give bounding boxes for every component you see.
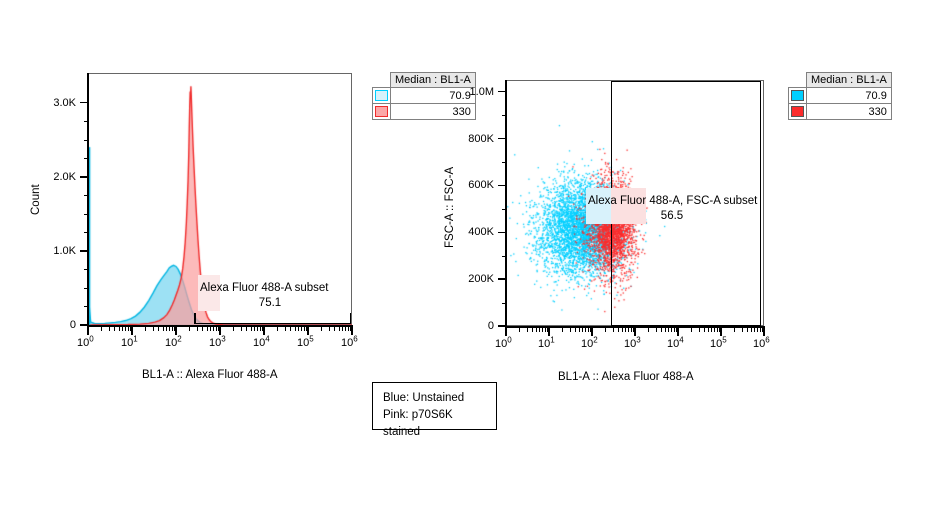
legend2-row-blue: 70.9 <box>789 88 892 104</box>
x-tick-minor <box>172 327 173 331</box>
pink-swatch <box>375 106 388 117</box>
y-tick-minor <box>84 288 88 289</box>
scatter-x-axis-title: BL1-A :: Alexa Fluor 488-A <box>558 371 694 383</box>
x-tick-minor <box>628 328 629 332</box>
note-line-pink: Pink: p70S6K stained <box>383 407 486 441</box>
y-tick-label: 2.0K <box>34 171 76 183</box>
x-tick-minor <box>575 328 576 332</box>
blue-swatch <box>375 90 388 101</box>
scatter-gate-label-value: 56.5 <box>588 209 756 224</box>
x-tick-minor <box>158 327 159 331</box>
histogram-gate-label: Alexa Fluor 488-A subset 75.1 <box>200 281 348 311</box>
blue-swatch <box>791 90 804 101</box>
histogram-x-axis-title: BL1-A :: Alexa Fluor 488-A <box>142 369 278 381</box>
y-tick-label: 3.0K <box>34 97 76 109</box>
scatter-panel: 0200K400K600K800K1.0M 100101102103104105… <box>418 0 818 400</box>
legend2-value-blue: 70.9 <box>807 88 892 104</box>
x-tick-minor <box>668 328 669 332</box>
legend2-header-median: Median : BL1-A <box>807 73 892 88</box>
x-tick-label: 105 <box>710 338 727 350</box>
scatter-gate-label-text: Alexa Fluor 488-A, FSC-A subset <box>588 195 757 207</box>
x-tick-minor <box>260 327 261 331</box>
x-tick-minor <box>542 328 543 332</box>
x-tick-minor <box>699 328 700 332</box>
x-tick-minor <box>334 327 335 331</box>
histogram-gate-label-value: 75.1 <box>200 296 340 311</box>
x-tick-label: 104 <box>667 338 684 350</box>
y-tick-minor <box>84 195 88 196</box>
x-tick-minor <box>527 328 528 332</box>
x-tick-minor <box>216 327 217 331</box>
y-tick-label: 1.0K <box>34 245 76 257</box>
x-tick-minor <box>329 327 330 331</box>
y-tick-minor <box>502 162 506 163</box>
x-tick-minor <box>101 327 102 331</box>
x-tick-minor <box>145 327 146 331</box>
scatter-legend-table: Median : BL1-A 70.9 330 <box>788 72 892 120</box>
x-tick-minor <box>757 328 758 332</box>
x-tick-minor <box>213 327 214 331</box>
y-tick-label: 0 <box>34 319 76 331</box>
x-tick-minor <box>625 328 626 332</box>
histogram-gate-label-text: Alexa Fluor 488-A subset <box>200 282 329 294</box>
y-tick-label: 400K <box>452 226 494 238</box>
x-tick-minor <box>648 328 649 332</box>
histogram-panel: 01.0K2.0K3.0K 100101102103104105106 Coun… <box>0 0 370 400</box>
x-tick-minor <box>169 327 170 331</box>
x-tick-minor <box>257 327 258 331</box>
x-tick-minor <box>202 327 203 331</box>
x-tick-minor <box>277 327 278 331</box>
x-tick-minor <box>618 328 619 332</box>
x-tick-minor <box>246 327 247 331</box>
y-tick-minor <box>502 256 506 257</box>
y-tick-major <box>498 91 506 93</box>
legend-corner-cell <box>373 73 391 88</box>
x-tick-minor <box>562 328 563 332</box>
y-tick-minor <box>502 115 506 116</box>
x-tick-minor <box>345 327 346 331</box>
y-tick-minor <box>84 306 88 307</box>
x-tick-minor <box>579 328 580 332</box>
x-tick-minor <box>714 328 715 332</box>
x-tick-label: 100 <box>495 338 512 350</box>
x-tick-minor <box>585 328 586 332</box>
x-tick-minor <box>348 327 349 331</box>
x-tick-minor <box>570 328 571 332</box>
x-tick-label: 103 <box>209 337 226 349</box>
x-tick-minor <box>754 328 755 332</box>
red-swatch <box>791 106 804 117</box>
y-tick-major <box>80 250 88 252</box>
y-tick-label: 800K <box>452 133 494 145</box>
x-tick-minor <box>241 327 242 331</box>
x-tick-label: 100 <box>77 337 94 349</box>
x-tick-label: 105 <box>297 337 314 349</box>
x-tick-minor <box>622 328 623 332</box>
x-tick-minor <box>751 328 752 332</box>
x-tick-minor <box>254 327 255 331</box>
x-tick-label: 104 <box>253 337 270 349</box>
x-tick-minor <box>166 327 167 331</box>
x-tick-label: 101 <box>538 338 555 350</box>
x-tick-minor <box>704 328 705 332</box>
color-key-note-box: Blue: Unstained Pink: p70S6K stained <box>372 382 497 430</box>
y-tick-major <box>80 102 88 104</box>
x-tick-minor <box>210 327 211 331</box>
y-tick-minor <box>84 269 88 270</box>
y-tick-minor <box>84 158 88 159</box>
x-tick-minor <box>321 327 322 331</box>
x-tick-minor <box>536 328 537 332</box>
x-tick-minor <box>656 328 657 332</box>
y-tick-major <box>80 176 88 178</box>
x-tick-minor <box>545 328 546 332</box>
scatter-y-axis-title: FSC-A :: FSC-A <box>444 167 456 248</box>
x-tick-minor <box>163 327 164 331</box>
legend2-row-red: 330 <box>789 104 892 120</box>
x-tick-minor <box>197 327 198 331</box>
x-tick-minor <box>582 328 583 332</box>
x-tick-minor <box>207 327 208 331</box>
y-tick-label: 600K <box>452 179 494 191</box>
x-tick-minor <box>605 328 606 332</box>
x-tick-minor <box>304 327 305 331</box>
y-tick-label: 200K <box>452 273 494 285</box>
x-tick-minor <box>233 327 234 331</box>
x-tick-minor <box>290 327 291 331</box>
y-tick-minor <box>84 140 88 141</box>
x-tick-minor <box>189 327 190 331</box>
x-tick-minor <box>125 327 126 331</box>
x-tick-label: 106 <box>341 337 358 349</box>
histogram-y-axis-title: Count <box>30 184 42 215</box>
x-tick-minor <box>298 327 299 331</box>
note-line-blue: Blue: Unstained <box>383 390 486 407</box>
x-tick-minor <box>631 328 632 332</box>
legend2-value-red: 330 <box>807 104 892 120</box>
x-tick-minor <box>128 327 129 331</box>
y-tick-major <box>498 185 506 187</box>
y-tick-minor <box>84 214 88 215</box>
y-tick-major <box>498 232 506 234</box>
x-tick-minor <box>122 327 123 331</box>
legend2-swatch-red-cell <box>789 104 807 120</box>
x-tick-minor <box>708 328 709 332</box>
x-tick-minor <box>742 328 743 332</box>
scatter-y-axis <box>505 80 507 327</box>
x-tick-minor <box>342 327 343 331</box>
x-tick-minor <box>760 328 761 332</box>
x-tick-minor <box>613 328 614 332</box>
x-tick-minor <box>301 327 302 331</box>
x-tick-minor <box>674 328 675 332</box>
x-tick-minor <box>251 327 252 331</box>
x-tick-minor <box>691 328 692 332</box>
legend2-header-row: Median : BL1-A <box>789 73 892 88</box>
y-tick-minor <box>84 232 88 233</box>
histogram-gate-bracket[interactable] <box>194 312 351 324</box>
y-tick-minor <box>84 121 88 122</box>
y-tick-major <box>498 278 506 280</box>
x-tick-minor <box>671 328 672 332</box>
legend-swatch-blue-cell <box>373 88 391 104</box>
x-tick-minor <box>588 328 589 332</box>
x-tick-minor <box>153 327 154 331</box>
y-tick-minor <box>502 303 506 304</box>
x-tick-minor <box>711 328 712 332</box>
x-tick-minor <box>339 327 340 331</box>
x-tick-minor <box>539 328 540 332</box>
scatter-gate-label: Alexa Fluor 488-A, FSC-A subset 56.5 <box>588 194 763 224</box>
x-tick-minor <box>665 328 666 332</box>
y-tick-label: 1.0M <box>452 86 494 98</box>
x-tick-minor <box>747 328 748 332</box>
x-tick-minor <box>717 328 718 332</box>
legend2-swatch-blue-cell <box>789 88 807 104</box>
x-tick-label: 102 <box>165 337 182 349</box>
x-tick-minor <box>661 328 662 332</box>
x-tick-minor <box>109 327 110 331</box>
x-tick-label: 101 <box>121 337 138 349</box>
y-tick-minor <box>502 209 506 210</box>
x-tick-minor <box>519 328 520 332</box>
x-tick-label: 102 <box>581 338 598 350</box>
y-tick-label: 0 <box>452 320 494 332</box>
y-tick-major <box>498 138 506 140</box>
x-tick-minor <box>295 327 296 331</box>
x-tick-minor <box>285 327 286 331</box>
x-tick-label: 103 <box>624 338 641 350</box>
x-tick-minor <box>532 328 533 332</box>
x-tick-minor <box>734 328 735 332</box>
x-tick-minor <box>119 327 120 331</box>
legend2-corner-cell <box>789 73 807 88</box>
legend-swatch-pink-cell <box>373 104 391 120</box>
x-tick-label: 106 <box>753 338 770 350</box>
x-tick-minor <box>114 327 115 331</box>
